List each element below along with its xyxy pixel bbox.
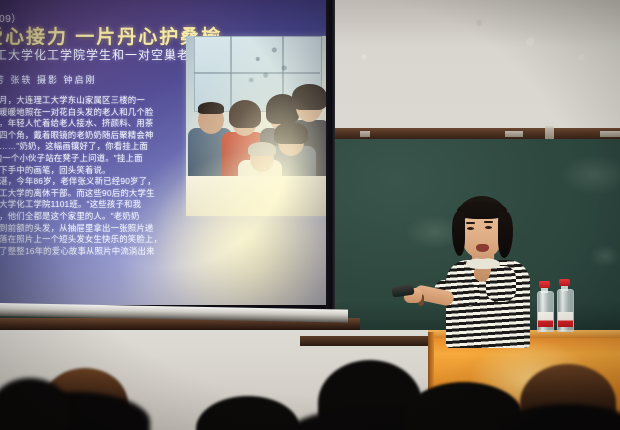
slide-body-line: 散落到前额的头发，从抽屉里拿出一张照片递	[0, 223, 188, 234]
slide-body-line: 脸上。年轻人忙着给老人接水、挤颜料、用茶	[0, 118, 188, 129]
rail-clip	[600, 131, 620, 137]
slide-body-line: "墙边一个小伙子站在凳子上问道。"挂上面	[0, 153, 188, 164]
slide-body-line: 奶停下手中的画笔，回头笑着说。	[0, 165, 188, 176]
presenter-eye	[485, 226, 492, 229]
screen-right-edge	[326, 0, 335, 312]
slide-body-line: 的三月，大连理工大学东山家属区三楼的一	[0, 95, 188, 106]
chalkboard-ledge-right	[300, 336, 430, 346]
presenter-side-hair	[498, 212, 513, 258]
lecture-hall-photo: (8/09） 爱心接力 一片丹心护桑榆 理工大学化工学院学生和一对空巢老 小芳 …	[0, 0, 620, 430]
rail-clip	[545, 126, 554, 140]
presenter-collar	[466, 258, 500, 269]
bottle-body	[557, 289, 574, 332]
slide-byline: 小芳 张轶 摄影 钟启刚	[0, 73, 97, 86]
slide-body-text: 的三月，大连理工大学东山家属区三楼的一阳光暖暖地照在一对花白头发的老人和几个脸脸…	[0, 95, 188, 257]
projection-screen: (8/09） 爱心接力 一片丹心护桑榆 理工大学化工学院学生和一对空巢老 小芳 …	[0, 0, 334, 312]
presenter-brow	[466, 222, 475, 224]
slide-body-line: 纸的四个角，戴着眼镜的老奶奶随后聚精会神	[0, 130, 188, 141]
rail-clip	[505, 131, 523, 137]
bottle-label	[558, 312, 573, 327]
slide-body-line: 理工大学化工学院1101班。"这些孩子和我	[0, 199, 188, 210]
presenter	[430, 196, 550, 346]
slide-body-line: 连理工大学的离休干部。而这些90后的大学生	[0, 188, 188, 199]
slide-body-line: 延续了整整16年的爱心故事从照片中流淌出来	[0, 246, 188, 257]
projected-slide: (8/09） 爱心接力 一片丹心护桑榆 理工大学化工学院学生和一对空巢老 小芳 …	[0, 0, 328, 305]
presenter-mouth	[476, 244, 489, 252]
slide-body-line: 叫刘湛，今年86岁，老伴张义新已经90岁了，	[0, 176, 188, 187]
bottle-cap	[559, 279, 570, 286]
water-bottle	[557, 286, 573, 332]
presenter-eye	[467, 227, 474, 230]
slide-body-line: 光洒落在照片上一个短头发女生快乐的笑脸上，	[0, 234, 188, 245]
slide-body-line: 但是，他们全都是这个家里的人。"老奶奶	[0, 211, 188, 222]
rail-clip	[360, 131, 370, 137]
presenter-brow	[484, 221, 493, 223]
slide-subtitle: 理工大学化工学院学生和一对空巢老	[0, 46, 190, 63]
slide-body-line: 牡丹……"奶奶，这幅画镶好了，你看挂上面	[0, 141, 188, 152]
photo-projector-glare	[186, 36, 328, 216]
slide-body-line: 阳光暖暖地照在一对花白头发的老人和几个脸	[0, 107, 188, 118]
slide-photo	[186, 36, 328, 216]
presenter-side-hair	[452, 212, 465, 256]
